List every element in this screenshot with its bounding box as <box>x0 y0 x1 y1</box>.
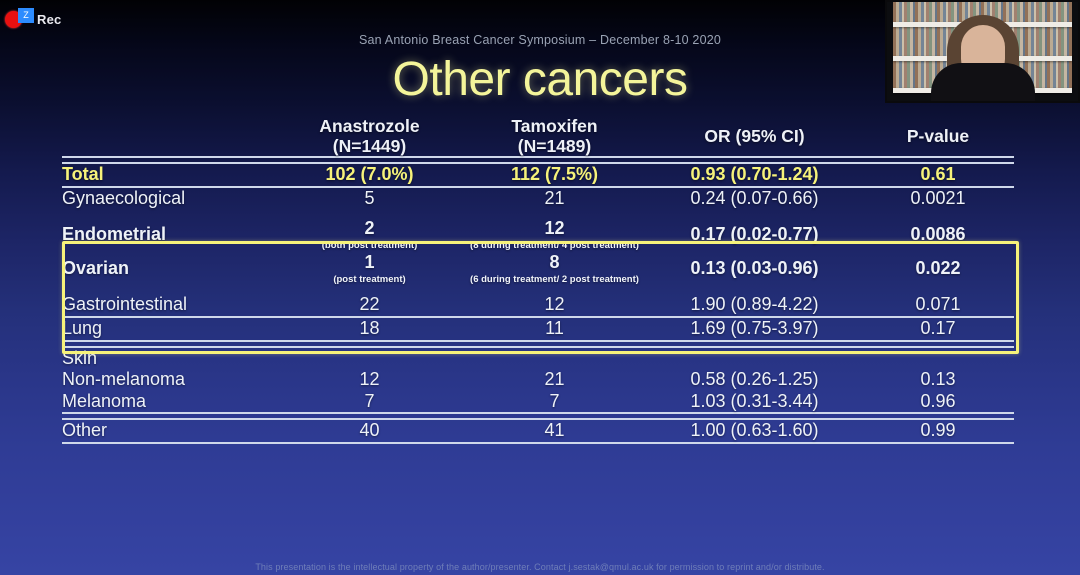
header-cell-or: OR (95% CI) <box>647 116 862 156</box>
cell-anastrozole: 7 <box>277 391 462 413</box>
cell-tamoxifen: 21 <box>462 188 647 210</box>
cell-anastrozole-note: (both post treatment) <box>277 241 462 252</box>
cell-anastrozole: 18 <box>277 318 462 340</box>
cell-tamoxifen-note: (6 during treatment/ 2 post treatment) <box>462 275 647 286</box>
header-cell-pvalue: P-value <box>862 116 1014 156</box>
header-anastrozole-n: (N=1449) <box>277 136 462 156</box>
row-label: Lung <box>62 318 277 340</box>
table-header-row: Anastrozole (N=1449) Tamoxifen (N=1489) … <box>62 116 1014 156</box>
cell-anastrozole-note: (post treatment) <box>277 275 462 286</box>
cell-anastrozole: 102 (7.0%) <box>277 164 462 186</box>
table-row: Total 102 (7.0%) 112 (7.5%) 0.93 (0.70-1… <box>62 164 1014 186</box>
cell-anastrozole <box>277 348 462 370</box>
slide-footer: This presentation is the intellectual pr… <box>0 562 1080 572</box>
cell-anastrozole: 22 <box>277 294 462 316</box>
cell-anastrozole: 12 <box>277 369 462 391</box>
cell-tamoxifen-note: (8 during treatment/ 4 post treatment) <box>462 241 647 252</box>
rule-double <box>62 340 1014 348</box>
cell-anastrozole-value: 2 <box>364 218 374 238</box>
cell-or: 1.03 (0.31-3.44) <box>647 391 862 413</box>
cell-tamoxifen: 11 <box>462 318 647 340</box>
row-label: Skin <box>62 348 277 370</box>
cell-pvalue: 0.071 <box>862 294 1014 316</box>
row-label: Gastrointestinal <box>62 294 277 316</box>
row-label: Endometrial <box>62 218 277 252</box>
rule-single <box>62 442 1014 444</box>
cell-pvalue: 0.96 <box>862 391 1014 413</box>
cell-or: 0.93 (0.70-1.24) <box>647 164 862 186</box>
table-body: Anastrozole (N=1449) Tamoxifen (N=1489) … <box>62 116 1014 444</box>
cell-tamoxifen <box>462 348 647 370</box>
cell-pvalue <box>862 348 1014 370</box>
cell-tamoxifen-value: 12 <box>544 218 564 238</box>
cell-or: 1.69 (0.75-3.97) <box>647 318 862 340</box>
table-row: Ovarian 1 (post treatment) 8 (6 during t… <box>62 252 1014 286</box>
header-cell-anastrozole: Anastrozole (N=1449) <box>277 116 462 156</box>
table-row: Endometrial 2 (both post treatment) 12 (… <box>62 218 1014 252</box>
header-tamoxifen-label: Tamoxifen <box>511 116 597 136</box>
row-label: Gynaecological <box>62 188 277 210</box>
rule-gap <box>62 209 1014 218</box>
presenter-video-tile[interactable] <box>885 0 1080 103</box>
cell-anastrozole: 1 (post treatment) <box>277 252 462 286</box>
cell-or: 0.24 (0.07-0.66) <box>647 188 862 210</box>
cell-tamoxifen: 41 <box>462 420 647 442</box>
cell-tamoxifen: 8 (6 during treatment/ 2 post treatment) <box>462 252 647 286</box>
row-label: Other <box>62 420 277 442</box>
header-cell-tamoxifen: Tamoxifen (N=1489) <box>462 116 647 156</box>
cell-pvalue: 0.0021 <box>862 188 1014 210</box>
rule-gap <box>62 285 1014 294</box>
row-label: Melanoma <box>62 391 277 413</box>
cell-or: 1.90 (0.89-4.22) <box>647 294 862 316</box>
row-label: Ovarian <box>62 252 277 286</box>
cell-or: 0.58 (0.26-1.25) <box>647 369 862 391</box>
cell-anastrozole: 40 <box>277 420 462 442</box>
recording-label: Rec <box>37 12 61 27</box>
cell-or: 0.13 (0.03-0.96) <box>647 252 862 286</box>
cell-anastrozole: 5 <box>277 188 462 210</box>
cell-tamoxifen: 12 <box>462 294 647 316</box>
table-row: Lung 18 11 1.69 (0.75-3.97) 0.17 <box>62 318 1014 340</box>
cell-or: 1.00 (0.63-1.60) <box>647 420 862 442</box>
cell-pvalue: 0.99 <box>862 420 1014 442</box>
presenter-torso <box>931 63 1035 101</box>
cell-pvalue: 0.17 <box>862 318 1014 340</box>
cell-anastrozole-value: 1 <box>364 252 374 272</box>
row-label: Total <box>62 164 277 186</box>
cell-pvalue: 0.0086 <box>862 218 1014 252</box>
cell-tamoxifen: 112 (7.5%) <box>462 164 647 186</box>
cell-anastrozole: 2 (both post treatment) <box>277 218 462 252</box>
rule-double <box>62 156 1014 164</box>
rule-double <box>62 412 1014 420</box>
table-row: Gynaecological 5 21 0.24 (0.07-0.66) 0.0… <box>62 188 1014 210</box>
table-row: Gastrointestinal 22 12 1.90 (0.89-4.22) … <box>62 294 1014 316</box>
other-cancers-table: Anastrozole (N=1449) Tamoxifen (N=1489) … <box>62 116 1014 444</box>
row-label: Non-melanoma <box>62 369 277 391</box>
cell-tamoxifen: 7 <box>462 391 647 413</box>
cell-pvalue: 0.61 <box>862 164 1014 186</box>
cell-or: 0.17 (0.02-0.77) <box>647 218 862 252</box>
table-row: Skin <box>62 348 1014 370</box>
header-cell-blank <box>62 116 277 156</box>
table-row: Non-melanoma 12 21 0.58 (0.26-1.25) 0.13 <box>62 369 1014 391</box>
cell-pvalue: 0.13 <box>862 369 1014 391</box>
zoom-badge-icon: Z <box>18 8 34 23</box>
recording-indicator: Z Rec <box>5 8 61 30</box>
presentation-slide: Z Rec San Antonio Breast Cancer Symposiu… <box>0 0 1080 575</box>
cell-or <box>647 348 862 370</box>
presenter-figure <box>936 11 1030 97</box>
cell-tamoxifen-value: 8 <box>549 252 559 272</box>
header-anastrozole-label: Anastrozole <box>319 116 419 136</box>
cell-pvalue: 0.022 <box>862 252 1014 286</box>
table-row: Melanoma 7 7 1.03 (0.31-3.44) 0.96 <box>62 391 1014 413</box>
cell-tamoxifen: 21 <box>462 369 647 391</box>
cell-tamoxifen: 12 (8 during treatment/ 4 post treatment… <box>462 218 647 252</box>
header-tamoxifen-n: (N=1489) <box>462 136 647 156</box>
table-row: Other 40 41 1.00 (0.63-1.60) 0.99 <box>62 420 1014 442</box>
